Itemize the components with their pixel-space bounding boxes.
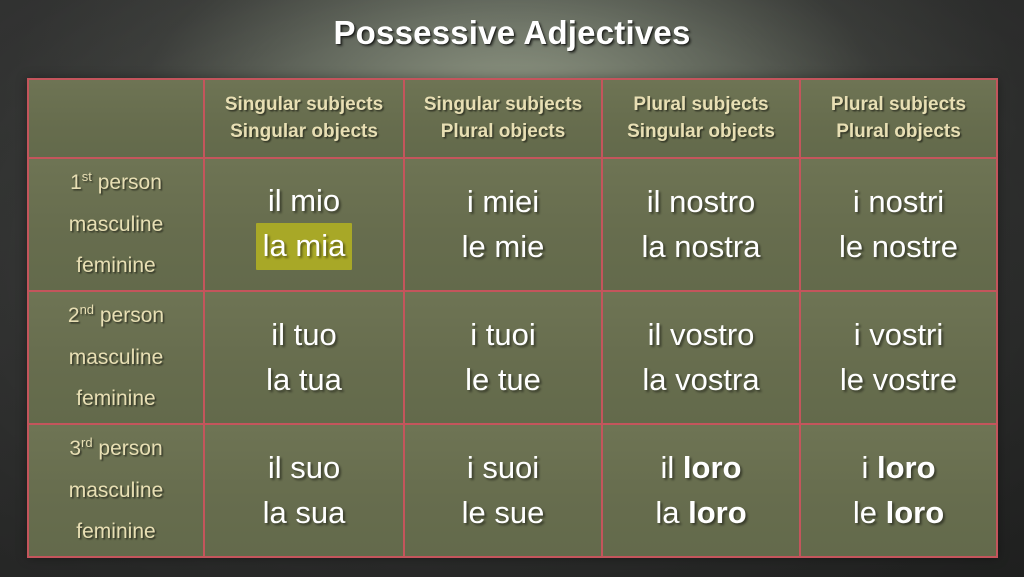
possessive-form-text: la vostra bbox=[642, 362, 759, 397]
column-header-object-line: Singular objects bbox=[205, 119, 403, 145]
column-header-1: Singular subjectsSingular objects bbox=[204, 79, 404, 158]
possessive-form-masculine: il nostro bbox=[603, 180, 799, 224]
possessive-form-feminine: la nostra bbox=[603, 225, 799, 269]
row-header-person-1: 1st personmasculinefeminine bbox=[28, 158, 204, 291]
form-cell: i lorole loro bbox=[800, 424, 997, 557]
row-label-masculine: masculine bbox=[29, 470, 203, 512]
possessive-form-text: il tuo bbox=[271, 317, 336, 352]
row-label-person: 3rd person bbox=[29, 428, 203, 470]
column-header-4: Plural subjectsPlural objects bbox=[800, 79, 997, 158]
form-cell: il tuola tua bbox=[204, 291, 404, 424]
possessive-form-text: i nostri bbox=[853, 184, 944, 219]
possessive-form-text: i vostri bbox=[854, 317, 944, 352]
possessive-form-feminine: la tua bbox=[205, 358, 403, 402]
possessive-form-emphasis: loro bbox=[683, 450, 742, 485]
form-cell: il vostrola vostra bbox=[602, 291, 800, 424]
possessive-form-emphasis: loro bbox=[886, 495, 945, 530]
slide-canvas: Possessive Adjectives Singular subjectsS… bbox=[0, 0, 1024, 577]
column-header-object-line: Plural objects bbox=[405, 119, 601, 145]
possessive-adjectives-table-wrapper: Singular subjectsSingular objectsSingula… bbox=[27, 78, 998, 557]
possessive-form-masculine: i loro bbox=[801, 446, 996, 490]
possessive-form-text: le nostre bbox=[839, 229, 958, 264]
table-row: 1st personmasculinefeminineil miola miai… bbox=[28, 158, 997, 291]
possessive-form-feminine: le sue bbox=[405, 491, 601, 535]
possessive-form-masculine: il vostro bbox=[603, 313, 799, 357]
possessive-form-feminine: la vostra bbox=[603, 358, 799, 402]
possessive-form-text: le tue bbox=[465, 362, 541, 397]
form-cell: i tuoile tue bbox=[404, 291, 602, 424]
possessive-form-text: il loro bbox=[661, 450, 742, 485]
form-cell: i nostrile nostre bbox=[800, 158, 997, 291]
row-label-person-ordinal-suffix: rd bbox=[81, 435, 93, 450]
possessive-form-text: i miei bbox=[467, 184, 539, 219]
possessive-form-feminine: la loro bbox=[603, 491, 799, 535]
possessive-form-masculine: il mio bbox=[205, 179, 403, 223]
row-header-person-3: 3rd personmasculinefeminine bbox=[28, 424, 204, 557]
form-cell: il nostrola nostra bbox=[602, 158, 800, 291]
possessive-form-masculine: il suo bbox=[205, 446, 403, 490]
column-header-subject-line: Singular subjects bbox=[405, 92, 601, 118]
possessive-form-masculine: i miei bbox=[405, 180, 601, 224]
form-cell: il lorola loro bbox=[602, 424, 800, 557]
highlight-box: la mia bbox=[256, 223, 353, 270]
possessive-form-text: la loro bbox=[655, 495, 746, 530]
row-label-person-number: 3 bbox=[69, 437, 81, 460]
row-label-person-ordinal-suffix: nd bbox=[80, 302, 94, 317]
possessive-form-text: i tuoi bbox=[470, 317, 535, 352]
column-header-subject-line: Singular subjects bbox=[205, 92, 403, 118]
possessive-form-masculine: il loro bbox=[603, 446, 799, 490]
possessive-form-masculine: il tuo bbox=[205, 313, 403, 357]
possessive-form-text: il suo bbox=[268, 450, 340, 485]
possessive-form-feminine: le loro bbox=[801, 491, 996, 535]
row-label-masculine: masculine bbox=[29, 337, 203, 379]
possessive-form-feminine: le vostre bbox=[801, 358, 996, 402]
possessive-form-emphasis: loro bbox=[688, 495, 747, 530]
row-label-feminine: feminine bbox=[29, 511, 203, 553]
possessive-form-text: la nostra bbox=[642, 229, 761, 264]
row-label-feminine: feminine bbox=[29, 378, 203, 420]
possessive-form-text: le sue bbox=[462, 495, 545, 530]
row-label-person-word: person bbox=[92, 171, 162, 194]
possessive-form-text: le loro bbox=[853, 495, 944, 530]
form-cell: il miola mia bbox=[204, 158, 404, 291]
possessive-form-masculine: i tuoi bbox=[405, 313, 601, 357]
row-label-person-number: 1 bbox=[70, 171, 82, 194]
possessive-form-masculine: i suoi bbox=[405, 446, 601, 490]
possessive-form-emphasis: loro bbox=[877, 450, 936, 485]
possessive-form-text: i suoi bbox=[467, 450, 539, 485]
row-label-masculine: masculine bbox=[29, 204, 203, 246]
possessive-form-feminine: la sua bbox=[205, 491, 403, 535]
form-cell: i suoile sue bbox=[404, 424, 602, 557]
possessive-form-text: il nostro bbox=[647, 184, 756, 219]
possessive-form-feminine: le nostre bbox=[801, 225, 996, 269]
row-label-person-number: 2 bbox=[68, 304, 80, 327]
possessive-adjectives-table: Singular subjectsSingular objectsSingula… bbox=[27, 78, 998, 558]
row-label-person-word: person bbox=[94, 304, 164, 327]
column-header-object-line: Singular objects bbox=[603, 119, 799, 145]
possessive-form-text: i loro bbox=[861, 450, 935, 485]
possessive-form-feminine: le tue bbox=[405, 358, 601, 402]
table-row: 2nd personmasculinefeminineil tuola tuai… bbox=[28, 291, 997, 424]
page-title: Possessive Adjectives bbox=[0, 14, 1024, 52]
possessive-form-text: il mio bbox=[268, 183, 340, 218]
form-cell: i vostrile vostre bbox=[800, 291, 997, 424]
form-cell: il suola sua bbox=[204, 424, 404, 557]
possessive-form-masculine: i nostri bbox=[801, 180, 996, 224]
row-label-person: 2nd person bbox=[29, 295, 203, 337]
possessive-form-text: il vostro bbox=[648, 317, 755, 352]
row-label-person-word: person bbox=[93, 437, 163, 460]
table-body: Singular subjectsSingular objectsSingula… bbox=[28, 79, 997, 557]
row-label-feminine: feminine bbox=[29, 245, 203, 287]
column-header-2: Singular subjectsPlural objects bbox=[404, 79, 602, 158]
possessive-form-text: le vostre bbox=[840, 362, 957, 397]
form-cell: i mieile mie bbox=[404, 158, 602, 291]
row-label-person: 1st person bbox=[29, 162, 203, 204]
column-header-subject-line: Plural subjects bbox=[801, 92, 996, 118]
possessive-form-feminine: la mia bbox=[205, 223, 403, 270]
row-label-person-ordinal-suffix: st bbox=[82, 169, 92, 184]
column-header-subject-line: Plural subjects bbox=[603, 92, 799, 118]
possessive-form-text: la tua bbox=[266, 362, 342, 397]
possessive-form-masculine: i vostri bbox=[801, 313, 996, 357]
table-header-row: Singular subjectsSingular objectsSingula… bbox=[28, 79, 997, 158]
column-header-3: Plural subjectsSingular objects bbox=[602, 79, 800, 158]
possessive-form-feminine: le mie bbox=[405, 225, 601, 269]
row-header-person-2: 2nd personmasculinefeminine bbox=[28, 291, 204, 424]
table-row: 3rd personmasculinefeminineil suola suai… bbox=[28, 424, 997, 557]
table-corner-cell bbox=[28, 79, 204, 158]
possessive-form-text: la sua bbox=[263, 495, 346, 530]
possessive-form-text: le mie bbox=[462, 229, 545, 264]
column-header-object-line: Plural objects bbox=[801, 119, 996, 145]
